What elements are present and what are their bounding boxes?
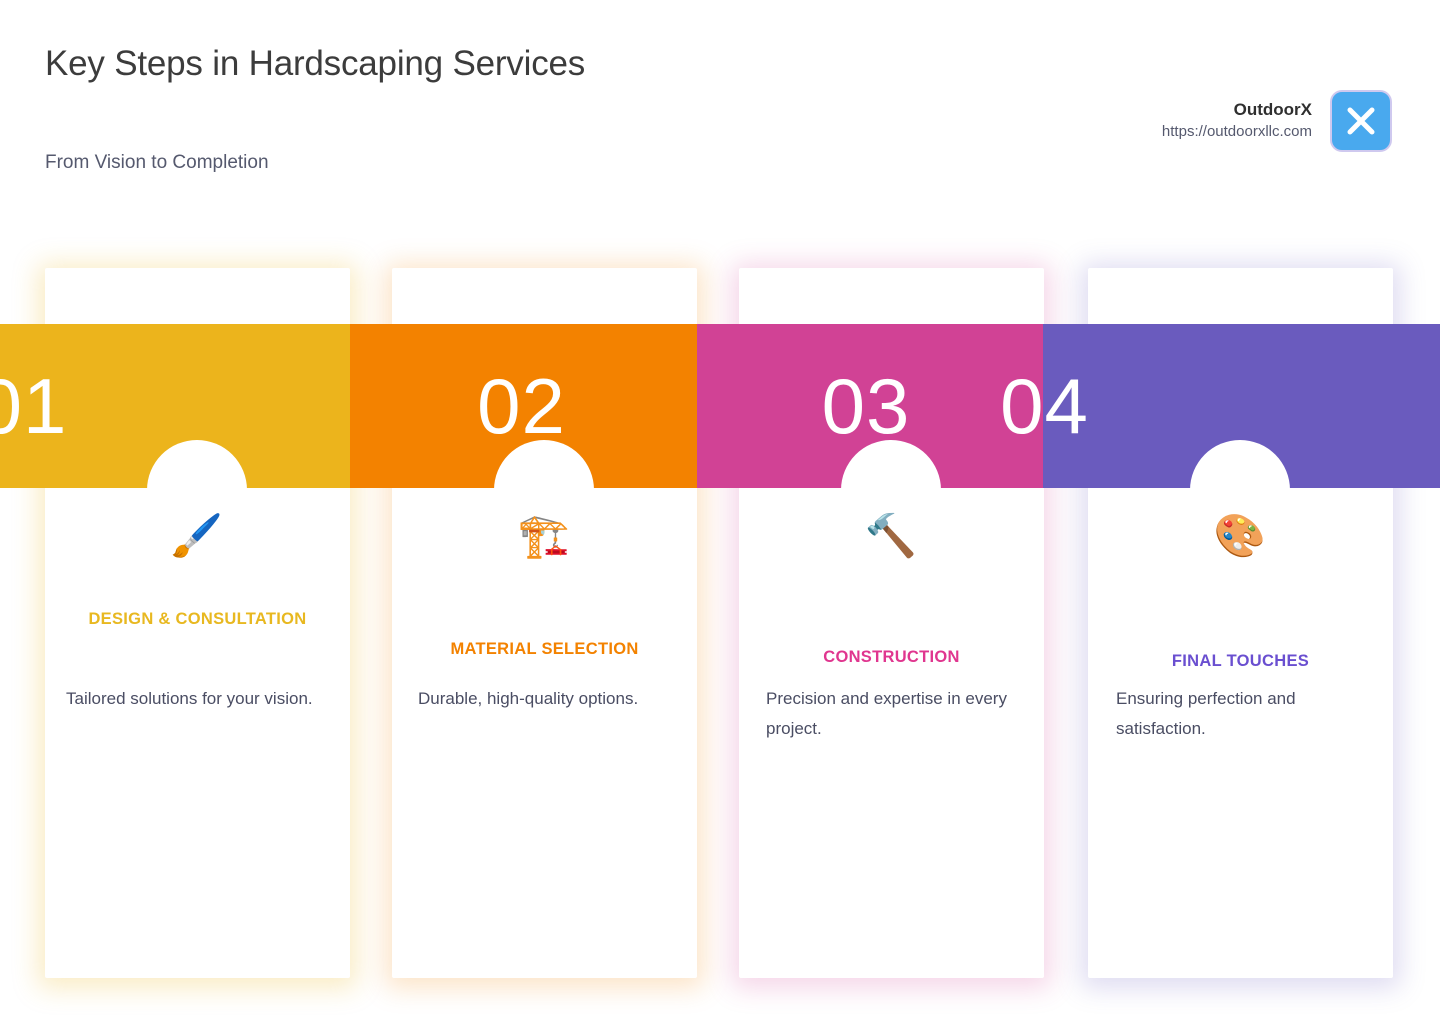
step-description-1: Tailored solutions for your vision. bbox=[66, 684, 316, 714]
page-title: Key Steps in Hardscaping Services bbox=[45, 36, 665, 91]
construction-crane-icon: 🏗️ bbox=[494, 505, 594, 567]
chevron-arrow-icon-2 bbox=[697, 324, 742, 488]
step-title-2: MATERIAL SELECTION bbox=[407, 634, 682, 664]
chevron-arrow-icon-1 bbox=[350, 324, 395, 488]
step-description-3: Precision and expertise in every project… bbox=[766, 684, 1016, 744]
step-title-4: FINAL TOUCHES bbox=[1103, 646, 1378, 676]
page-subtitle: From Vision to Completion bbox=[45, 152, 269, 174]
step-card-4[interactable] bbox=[1088, 268, 1393, 978]
brand-text: OutdoorX https://outdoorxllc.com bbox=[1162, 99, 1312, 142]
artist-palette-icon: 🎨 bbox=[1190, 505, 1290, 567]
step-card-2[interactable] bbox=[392, 268, 697, 978]
brand-name: OutdoorX bbox=[1162, 99, 1312, 122]
brand-logo bbox=[1330, 90, 1392, 152]
hammer-icon: 🔨 bbox=[841, 505, 941, 567]
step-title-1: DESIGN & CONSULTATION bbox=[60, 604, 335, 634]
step-title-3: CONSTRUCTION bbox=[754, 642, 1029, 672]
step-description-2: Durable, high-quality options. bbox=[418, 684, 668, 714]
brand-url[interactable]: https://outdoorxllc.com bbox=[1162, 122, 1312, 142]
brand-block: OutdoorX https://outdoorxllc.com bbox=[1162, 90, 1392, 152]
logo-x-icon bbox=[1341, 101, 1381, 141]
step-card-3[interactable] bbox=[739, 268, 1044, 978]
infographic-canvas: Key Steps in Hardscaping Services From V… bbox=[0, 0, 1440, 1024]
chevron-arrow-icon-3 bbox=[1043, 324, 1088, 488]
paintbrush-icon: 🖌️ bbox=[147, 505, 247, 567]
step-description-4: Ensuring perfection and satisfaction. bbox=[1116, 684, 1366, 744]
